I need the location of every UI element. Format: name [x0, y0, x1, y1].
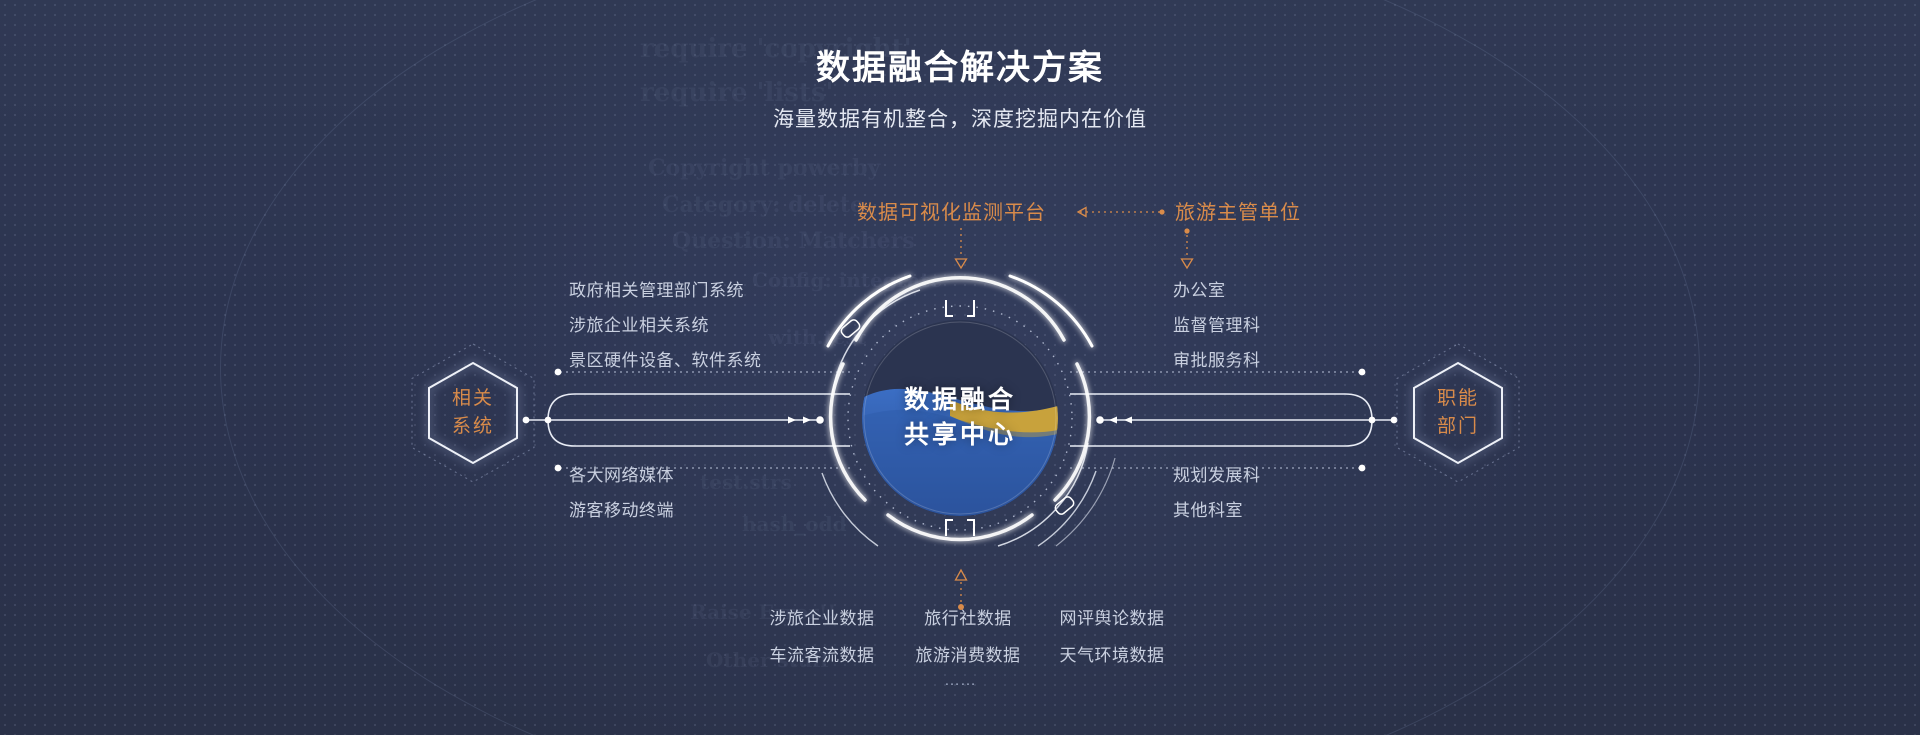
label-visualization-platform[interactable]: 数据可视化监测平台	[857, 196, 1046, 225]
center-core-line1: 数据融合	[904, 383, 1016, 419]
drop-arrow-authority-icon	[1177, 228, 1197, 276]
center-core-label: 数据融合 共享中心	[862, 320, 1058, 516]
bottom-data-more: ……	[0, 672, 1920, 690]
center-core-data-fusion[interactable]: 数据融合 共享中心	[862, 320, 1058, 516]
infographic-canvas: require 'copyright' require 'lists' Copy…	[0, 0, 1920, 735]
bottom-data-r2-c3: 天气环境数据	[1042, 641, 1182, 666]
hub-right-functional-departments[interactable]: 职能 部门	[1383, 338, 1533, 488]
right-item-5: 其他科室	[1173, 496, 1243, 521]
left-item-1: 政府相关管理部门系统	[569, 276, 744, 301]
right-item-2: 监督管理科	[1173, 311, 1261, 336]
bottom-data-r1-c1: 涉旅企业数据	[752, 604, 892, 629]
bottom-data-r1-c2: 旅行社数据	[898, 604, 1038, 629]
bottom-data-r1-c3: 网评舆论数据	[1042, 604, 1182, 629]
bottom-data-r2-c1: 车流客流数据	[752, 641, 892, 666]
page-title: 数据融合解决方案	[0, 40, 1920, 89]
label-tourism-authority[interactable]: 旅游主管单位	[1175, 196, 1301, 225]
right-item-1: 办公室	[1173, 276, 1226, 301]
bg-texture-4: Category: delete	[662, 192, 864, 218]
left-item-2: 涉旅企业相关系统	[569, 311, 709, 336]
bg-texture-3: Copyright powerby	[648, 155, 880, 181]
hub-left-related-systems[interactable]: 相关 系统	[398, 338, 548, 488]
left-item-5: 游客移动终端	[569, 496, 674, 521]
center-core-line2: 共享中心	[904, 418, 1016, 454]
bottom-data-r2-c2: 旅游消费数据	[898, 641, 1038, 666]
top-connector-arrow-icon	[1066, 206, 1166, 218]
page-subtitle: 海量数据有机整合，深度挖掘内在价值	[0, 103, 1920, 133]
